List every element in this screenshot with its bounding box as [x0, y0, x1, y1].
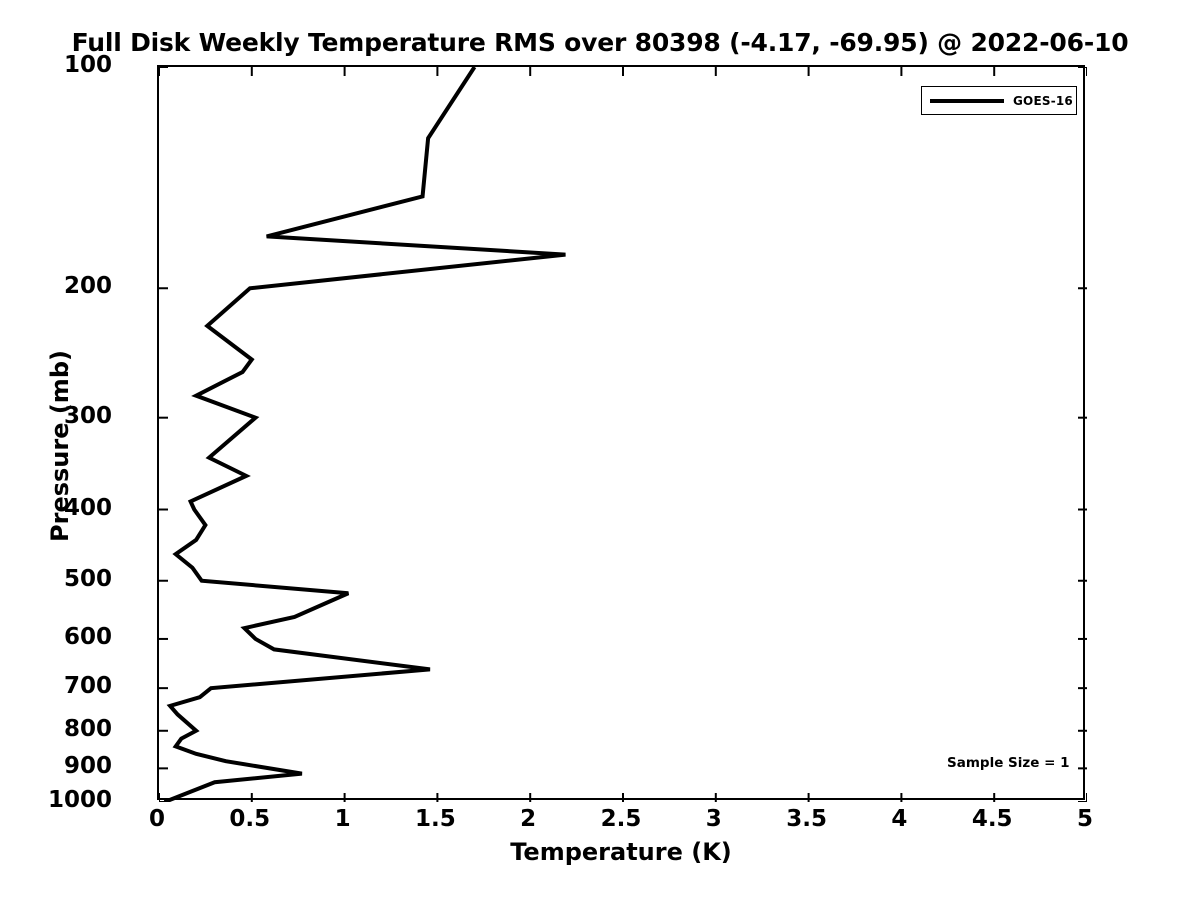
y-axis-label: Pressure (mb) [46, 146, 74, 746]
chart-figure: Full Disk Weekly Temperature RMS over 80… [0, 0, 1200, 900]
plot-area [157, 65, 1085, 800]
y-tick-label-800: 800 [0, 716, 112, 742]
legend-box[interactable]: GOES-16 [921, 86, 1077, 115]
y-tick-label-600: 600 [0, 624, 112, 650]
y-tick-label-400: 400 [0, 495, 112, 521]
sample-size-annotation: Sample Size = 1 [947, 755, 1070, 771]
x-tick-label-5: 5 [1025, 806, 1145, 832]
y-tick-label-300: 300 [0, 403, 112, 429]
axis-tick-marks [159, 67, 1087, 802]
y-tick-label-100: 100 [0, 52, 112, 78]
y-tick-label-700: 700 [0, 673, 112, 699]
data-line-goes-16 [165, 67, 566, 802]
page-title: Full Disk Weekly Temperature RMS over 80… [0, 28, 1200, 57]
data-series-group [165, 67, 566, 802]
y-tick-label-500: 500 [0, 566, 112, 592]
x-axis-label: Temperature (K) [157, 838, 1085, 866]
y-tick-label-1000: 1000 [0, 787, 112, 813]
data-plot-svg [159, 67, 1087, 802]
y-tick-label-200: 200 [0, 273, 112, 299]
y-tick-label-900: 900 [0, 753, 112, 779]
legend-label-goes-16: GOES-16 [1013, 94, 1073, 108]
legend-line-swatch-goes-16 [930, 99, 1004, 103]
